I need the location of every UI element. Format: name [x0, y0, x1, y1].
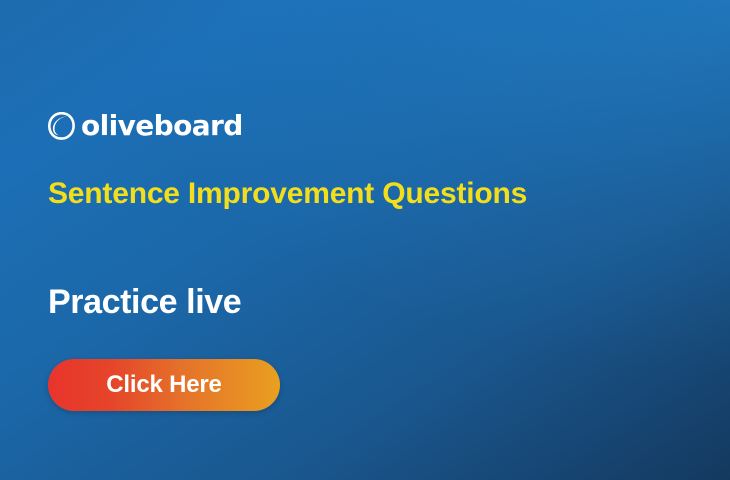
- page-title: Sentence Improvement Questions: [48, 177, 527, 212]
- oliveboard-logo[interactable]: oliveboard: [48, 109, 243, 143]
- oliveboard-leaf-logo-icon: [48, 112, 75, 140]
- oliveboard-wordmark: oliveboard: [81, 112, 243, 140]
- click-here-button[interactable]: Click Here: [48, 359, 280, 411]
- banner-content: oliveboard Sentence Improvement Question…: [48, 0, 688, 480]
- subtitle: Practice live: [48, 283, 241, 322]
- promo-banner: oliveboard Sentence Improvement Question…: [0, 0, 730, 480]
